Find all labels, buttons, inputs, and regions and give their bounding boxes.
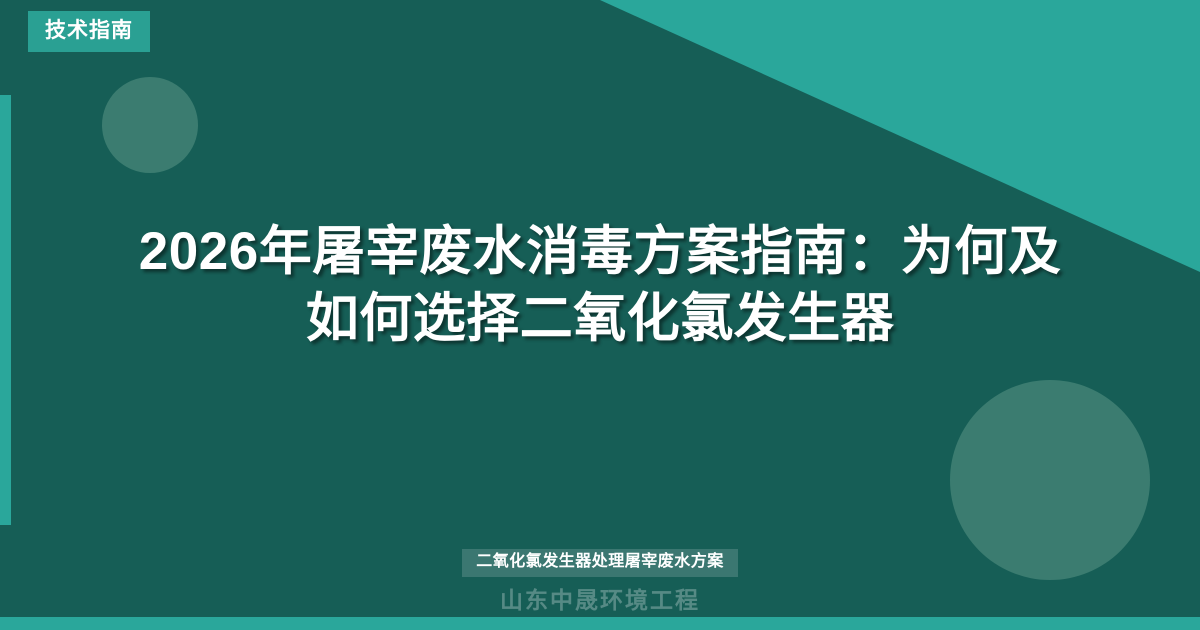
caption-pill: 二氧化氯发生器处理屠宰废水方案 [462, 549, 738, 577]
footer-block: 二氧化氯发生器处理屠宰废水方案 山东中晟环境工程 [0, 549, 1200, 612]
circle-decoration-top-left [102, 77, 198, 173]
bottom-accent-bar [0, 617, 1200, 630]
title-line-1: 2026年屠宰废水消毒方案指南：为何及 [90, 218, 1110, 285]
watermark-text: 山东中晟环境工程 [0, 589, 1200, 612]
page-title: 2026年屠宰废水消毒方案指南：为何及 如何选择二氧化氯发生器 [0, 218, 1200, 352]
title-line-2: 如何选择二氧化氯发生器 [90, 285, 1110, 352]
cover-banner: 技术指南 2026年屠宰废水消毒方案指南：为何及 如何选择二氧化氯发生器 二氧化… [0, 0, 1200, 630]
category-badge: 技术指南 [28, 11, 150, 52]
